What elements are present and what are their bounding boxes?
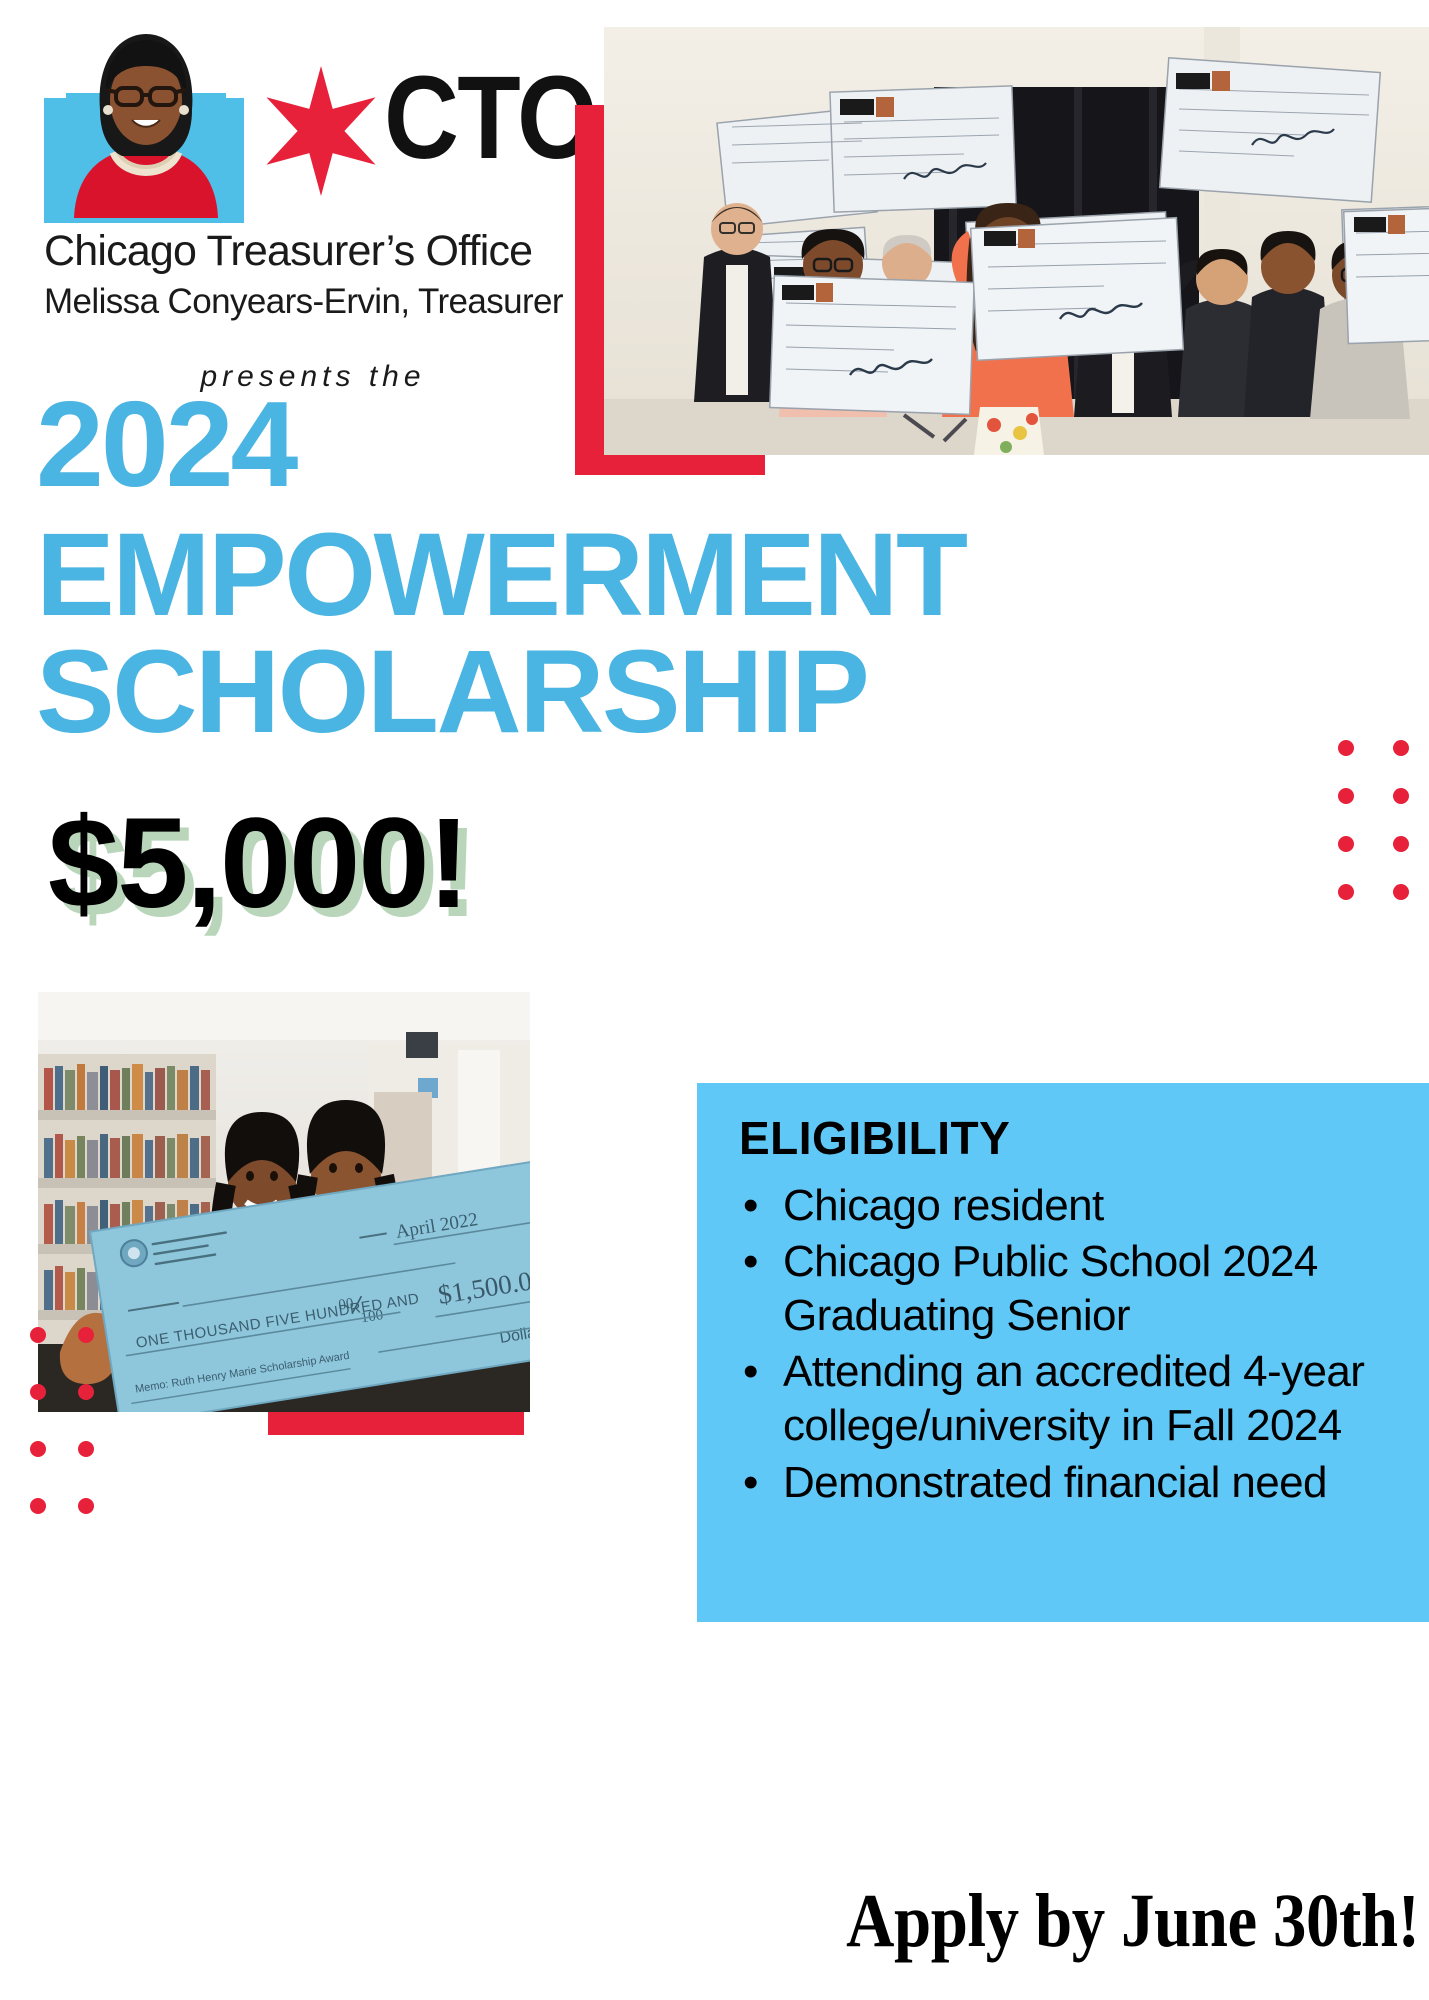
list-item: • Chicago Public School 2024 Graduating … — [783, 1235, 1429, 1343]
bullet-glyph: • — [743, 1345, 758, 1399]
list-item-label: Demonstrated financial need — [783, 1458, 1327, 1507]
dot — [78, 1384, 94, 1400]
cto-logo-block: CTO Chicago Treasurer’s Office Melissa C… — [44, 18, 554, 394]
dot — [78, 1441, 94, 1457]
bullet-glyph: • — [743, 1456, 758, 1510]
list-item-label: Attending an accredited 4-year college/u… — [783, 1347, 1364, 1450]
dot — [78, 1498, 94, 1514]
list-item-label: Chicago resident — [783, 1181, 1104, 1230]
dot — [1338, 884, 1354, 900]
dot — [1393, 884, 1409, 900]
title-line-scholarship: SCHOLARSHIP — [36, 632, 867, 752]
list-item: • Chicago resident — [783, 1179, 1429, 1233]
title-year: 2024 — [36, 383, 295, 505]
dot — [1338, 740, 1354, 756]
dot — [1338, 788, 1354, 804]
dot — [78, 1327, 94, 1343]
dot — [30, 1327, 46, 1343]
svg-text:00: 00 — [337, 1296, 354, 1314]
dot — [1338, 836, 1354, 852]
apply-deadline: Apply by June 30th! — [846, 1878, 1419, 1965]
list-item: • Demonstrated financial need — [783, 1456, 1429, 1510]
dot — [30, 1441, 46, 1457]
dot — [30, 1498, 46, 1514]
bullet-glyph: • — [743, 1179, 758, 1233]
bullet-glyph: • — [743, 1235, 758, 1289]
decorative-dot-grid-left — [30, 1327, 126, 1555]
treasurer-portrait-image — [66, 18, 226, 218]
dot — [1393, 740, 1409, 756]
list-item-label: Chicago Public School 2024 Graduating Se… — [783, 1237, 1318, 1340]
decorative-dot-grid-right — [1338, 740, 1429, 932]
treasurer-name: Melissa Conyears-Ervin, Treasurer — [44, 282, 554, 322]
eligibility-heading: ELIGIBILITY — [739, 1111, 1010, 1165]
chicago-six-point-star-icon — [256, 66, 386, 196]
cto-acronym: CTO — [384, 62, 596, 174]
top-photo-group-check-ceremony — [604, 27, 1429, 455]
eligibility-panel: ELIGIBILITY • Chicago resident • Chicago… — [697, 1083, 1429, 1622]
award-amount: $5,000! — [48, 790, 468, 937]
logo-row: CTO — [44, 18, 554, 223]
office-name: Chicago Treasurer’s Office — [44, 227, 554, 276]
list-item: • Attending an accredited 4-year college… — [783, 1345, 1429, 1453]
scholarship-flyer: CTO Chicago Treasurer’s Office Melissa C… — [0, 0, 1429, 2000]
dot — [30, 1384, 46, 1400]
dot — [1393, 836, 1409, 852]
eligibility-list: • Chicago resident • Chicago Public Scho… — [725, 1179, 1429, 1512]
dot — [1393, 788, 1409, 804]
title-line-empowerment: EMPOWERMENT — [36, 515, 1426, 635]
treasurer-headshot — [44, 18, 244, 223]
